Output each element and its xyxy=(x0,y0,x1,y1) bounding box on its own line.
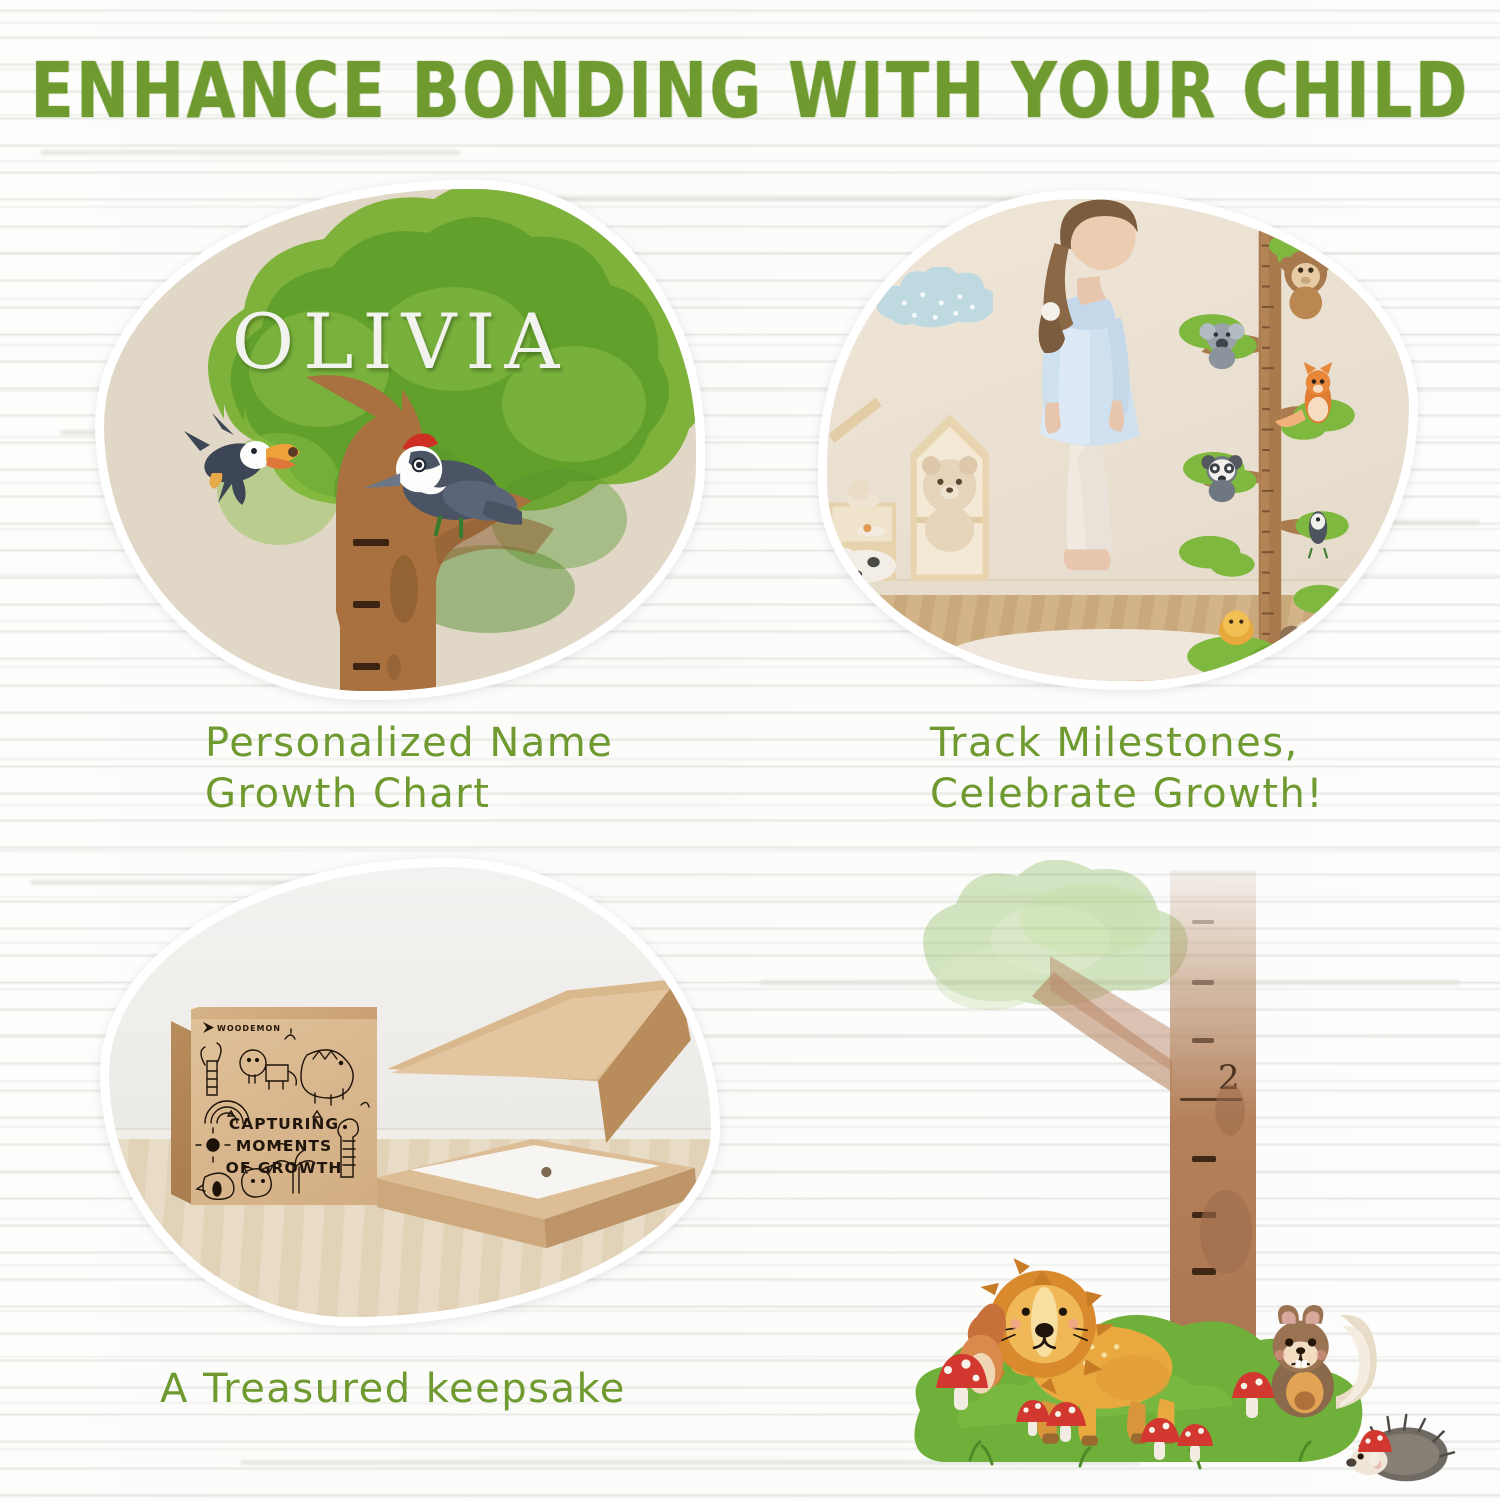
personalized-name-text: OLIVIA xyxy=(104,297,696,386)
caption-personalized-name: Personalized Name Growth Chart xyxy=(205,718,613,820)
page-headline: ENHANCE BONDING WITH YOUR CHILD xyxy=(0,46,1500,135)
ruler-tick xyxy=(353,601,380,608)
caption-track-milestones: Track Milestones, Celebrate Growth! xyxy=(930,718,1324,820)
toucan-bird-icon xyxy=(182,411,302,521)
panel-treasured-keepsake: WOODEMON CAPTURING MOMENTS OF GROWTH xyxy=(100,858,720,1326)
bottom-right-growth-chart-illustration: 2 xyxy=(900,860,1500,1500)
bird-decal xyxy=(1309,511,1327,558)
box-front-face: WOODEMON CAPTURING MOMENTS OF GROWTH xyxy=(191,1015,377,1205)
monkey-decal xyxy=(1280,250,1331,319)
box-tagline-text: CAPTURING MOMENTS OF GROWTH xyxy=(191,1113,377,1179)
panel-track-milestones xyxy=(818,190,1418,690)
woodpecker-bird-icon xyxy=(354,425,522,551)
panel-personalized-name: OLIVIA xyxy=(95,180,705,700)
printed-keepsake-box: WOODEMON CAPTURING MOMENTS OF GROWTH xyxy=(171,1015,377,1205)
ruler-tick xyxy=(353,663,380,670)
mushroom-cluster xyxy=(900,1300,1500,1500)
panel-2-scene xyxy=(827,199,1409,681)
child-photo-figure xyxy=(1005,199,1181,593)
caption-treasured-keepsake: A Treasured keepsake xyxy=(160,1364,626,1415)
cloud-pillow xyxy=(869,267,993,341)
wall-growth-chart-decal xyxy=(1167,215,1375,681)
open-mailer-box xyxy=(369,957,699,1257)
box-brand-logo: WOODEMON xyxy=(217,1024,281,1033)
panel-3-scene: WOODEMON CAPTURING MOMENTS OF GROWTH xyxy=(109,867,711,1317)
panel-1-scene: OLIVIA xyxy=(104,189,696,691)
